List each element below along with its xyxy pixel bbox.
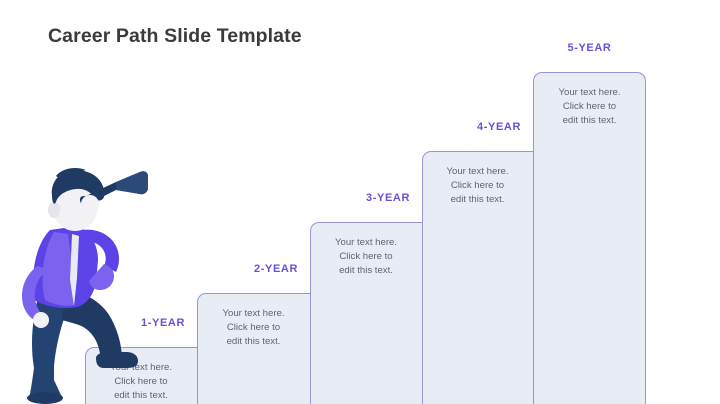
character-ear: [48, 202, 60, 218]
character-back-shoe: [27, 392, 63, 404]
step-year-label-3[interactable]: 3-YEAR: [270, 192, 410, 204]
slide-canvas: Career Path Slide Template Your text her…: [0, 0, 720, 404]
character-right-hand: [81, 195, 99, 213]
step-body-text-4[interactable]: Your text here. Click here to edit this …: [428, 165, 527, 207]
character-front-shoe: [96, 352, 138, 368]
step-body-text-3[interactable]: Your text here. Click here to edit this …: [316, 236, 416, 278]
step-year-label-5[interactable]: 5-YEAR: [533, 42, 646, 54]
telescope-lens: [116, 171, 148, 194]
character-left-hand: [33, 312, 49, 328]
step-body-text-2[interactable]: Your text here. Click here to edit this …: [203, 307, 304, 349]
step-body-text-5[interactable]: Your text here. Click here to edit this …: [539, 86, 640, 128]
businessman-with-telescope-illustration: [16, 168, 148, 404]
step-year-label-2[interactable]: 2-YEAR: [157, 263, 298, 275]
step-year-label-4[interactable]: 4-YEAR: [382, 121, 521, 133]
